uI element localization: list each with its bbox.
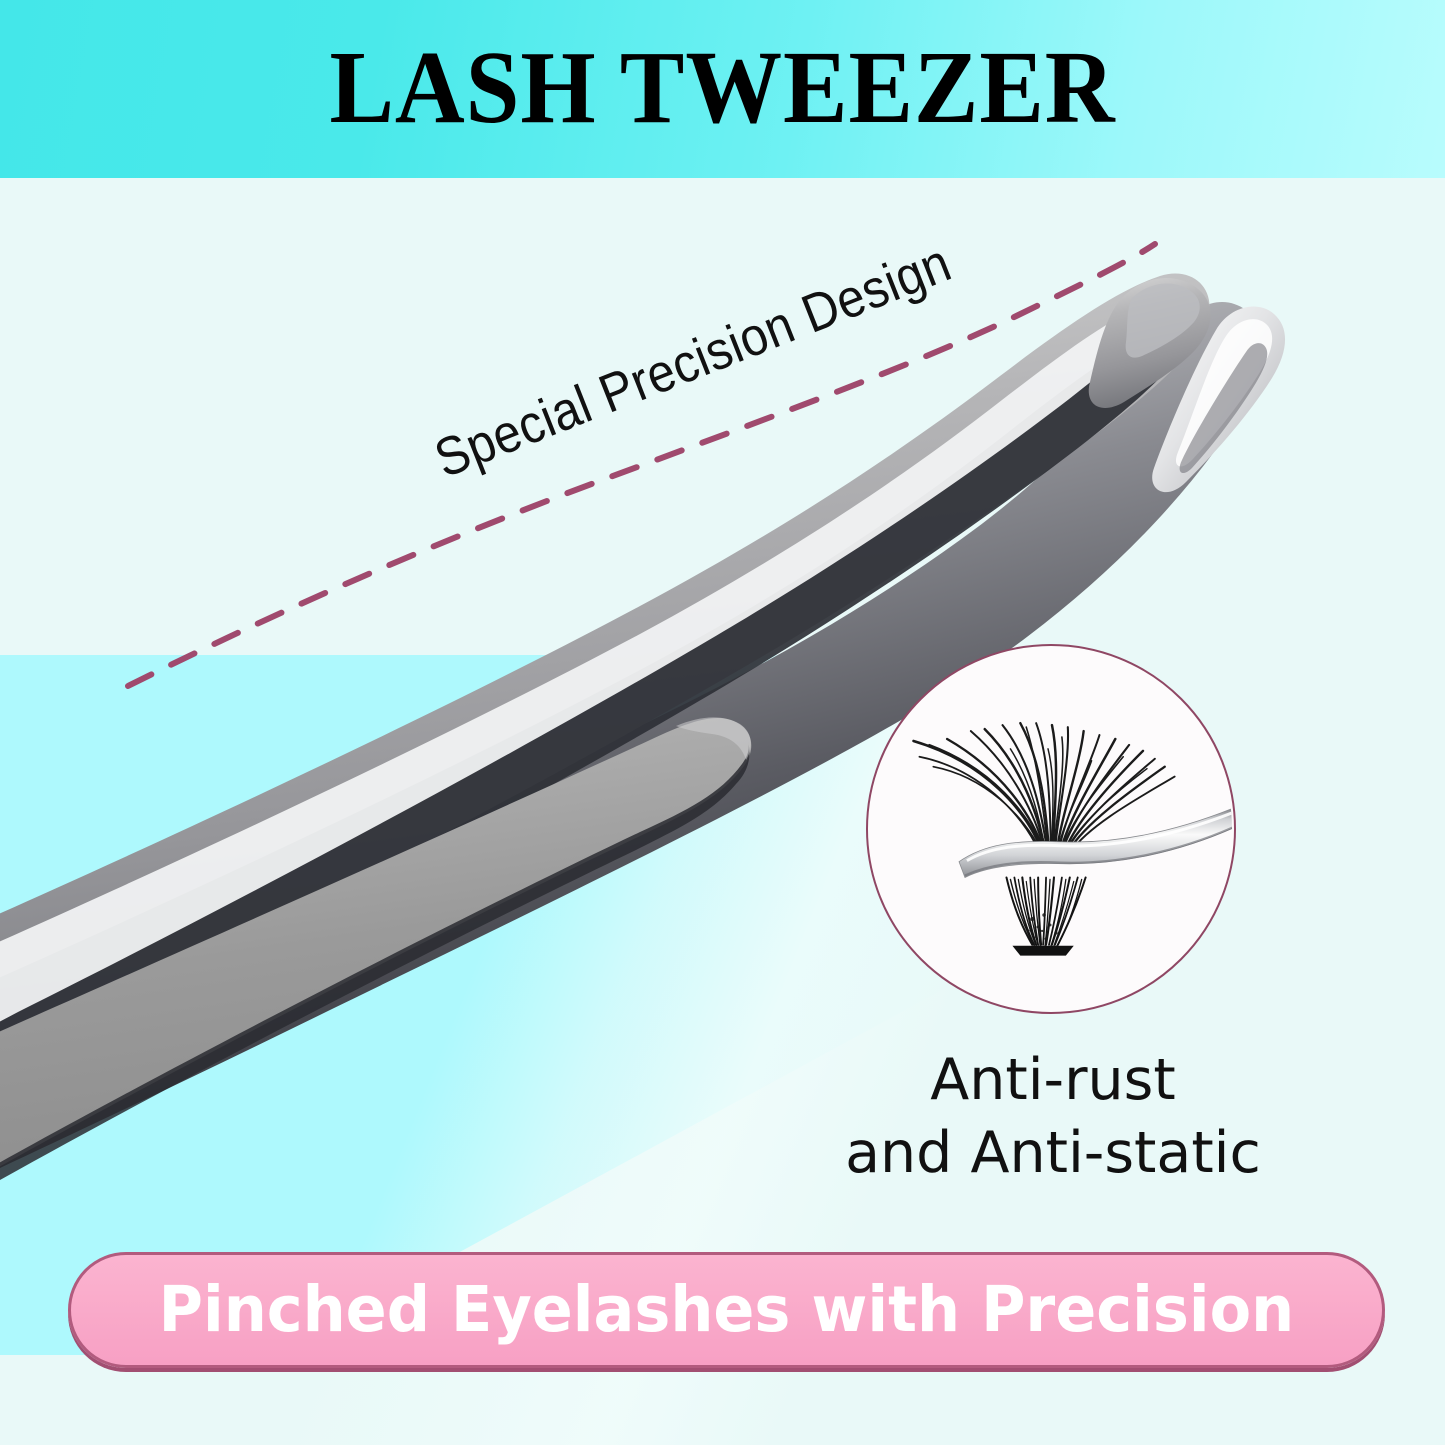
promo-banner: Pinched Eyelashes with Precision (68, 1252, 1385, 1368)
inset-caption-line-1: Anti-rust (753, 1044, 1353, 1117)
product-poster: LASH TWEEZER (0, 0, 1445, 1445)
page-title: LASH TWEEZER (51, 36, 1395, 140)
inset-caption: Anti-rust and Anti-static (753, 1044, 1353, 1190)
inset-caption-line-2: and Anti-static (753, 1117, 1353, 1190)
lash-detail-circle (866, 644, 1236, 1014)
promo-banner-text: Pinched Eyelashes with Precision (159, 1277, 1295, 1343)
